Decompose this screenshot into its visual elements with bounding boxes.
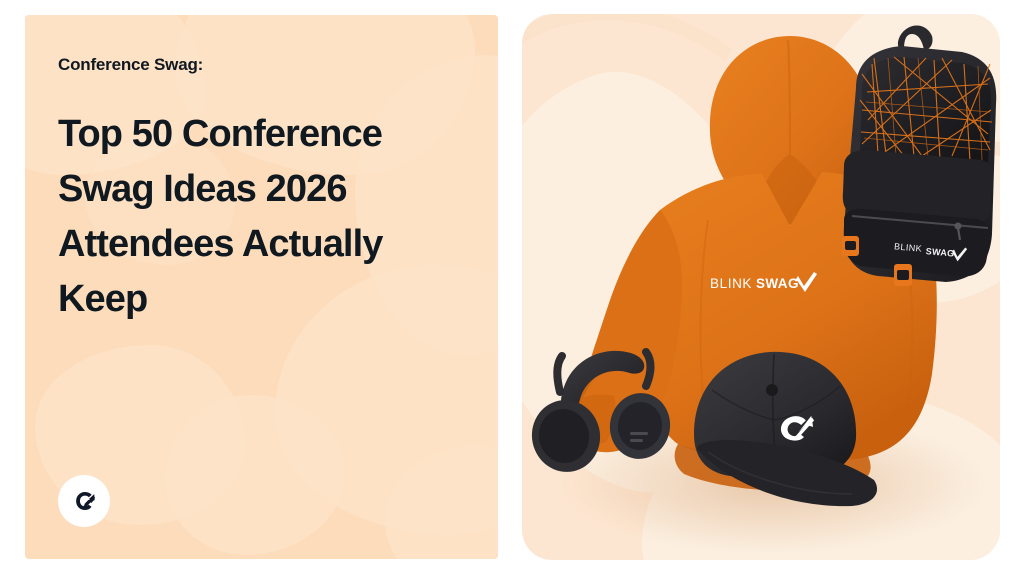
page-title: Top 50 Conference Swag Ideas 2026 Attend… xyxy=(58,107,458,327)
background-blob xyxy=(165,395,345,555)
hero-card: Conference Swag: Top 50 Conference Swag … xyxy=(0,0,1024,576)
eyebrow-label: Conference Swag: xyxy=(58,55,203,75)
hoodie-print-swag: SWAG xyxy=(756,276,799,291)
product-photo-group: BLINK SWAG xyxy=(522,14,1000,560)
backpack-map-panel xyxy=(860,57,992,162)
right-product-panel: BLINK SWAG xyxy=(522,14,1000,560)
g-arrow-icon xyxy=(69,486,99,516)
brand-logo-badge xyxy=(58,475,110,527)
hoodie-print-blink: BLINK xyxy=(710,276,752,291)
left-text-panel: Conference Swag: Top 50 Conference Swag … xyxy=(25,15,498,559)
